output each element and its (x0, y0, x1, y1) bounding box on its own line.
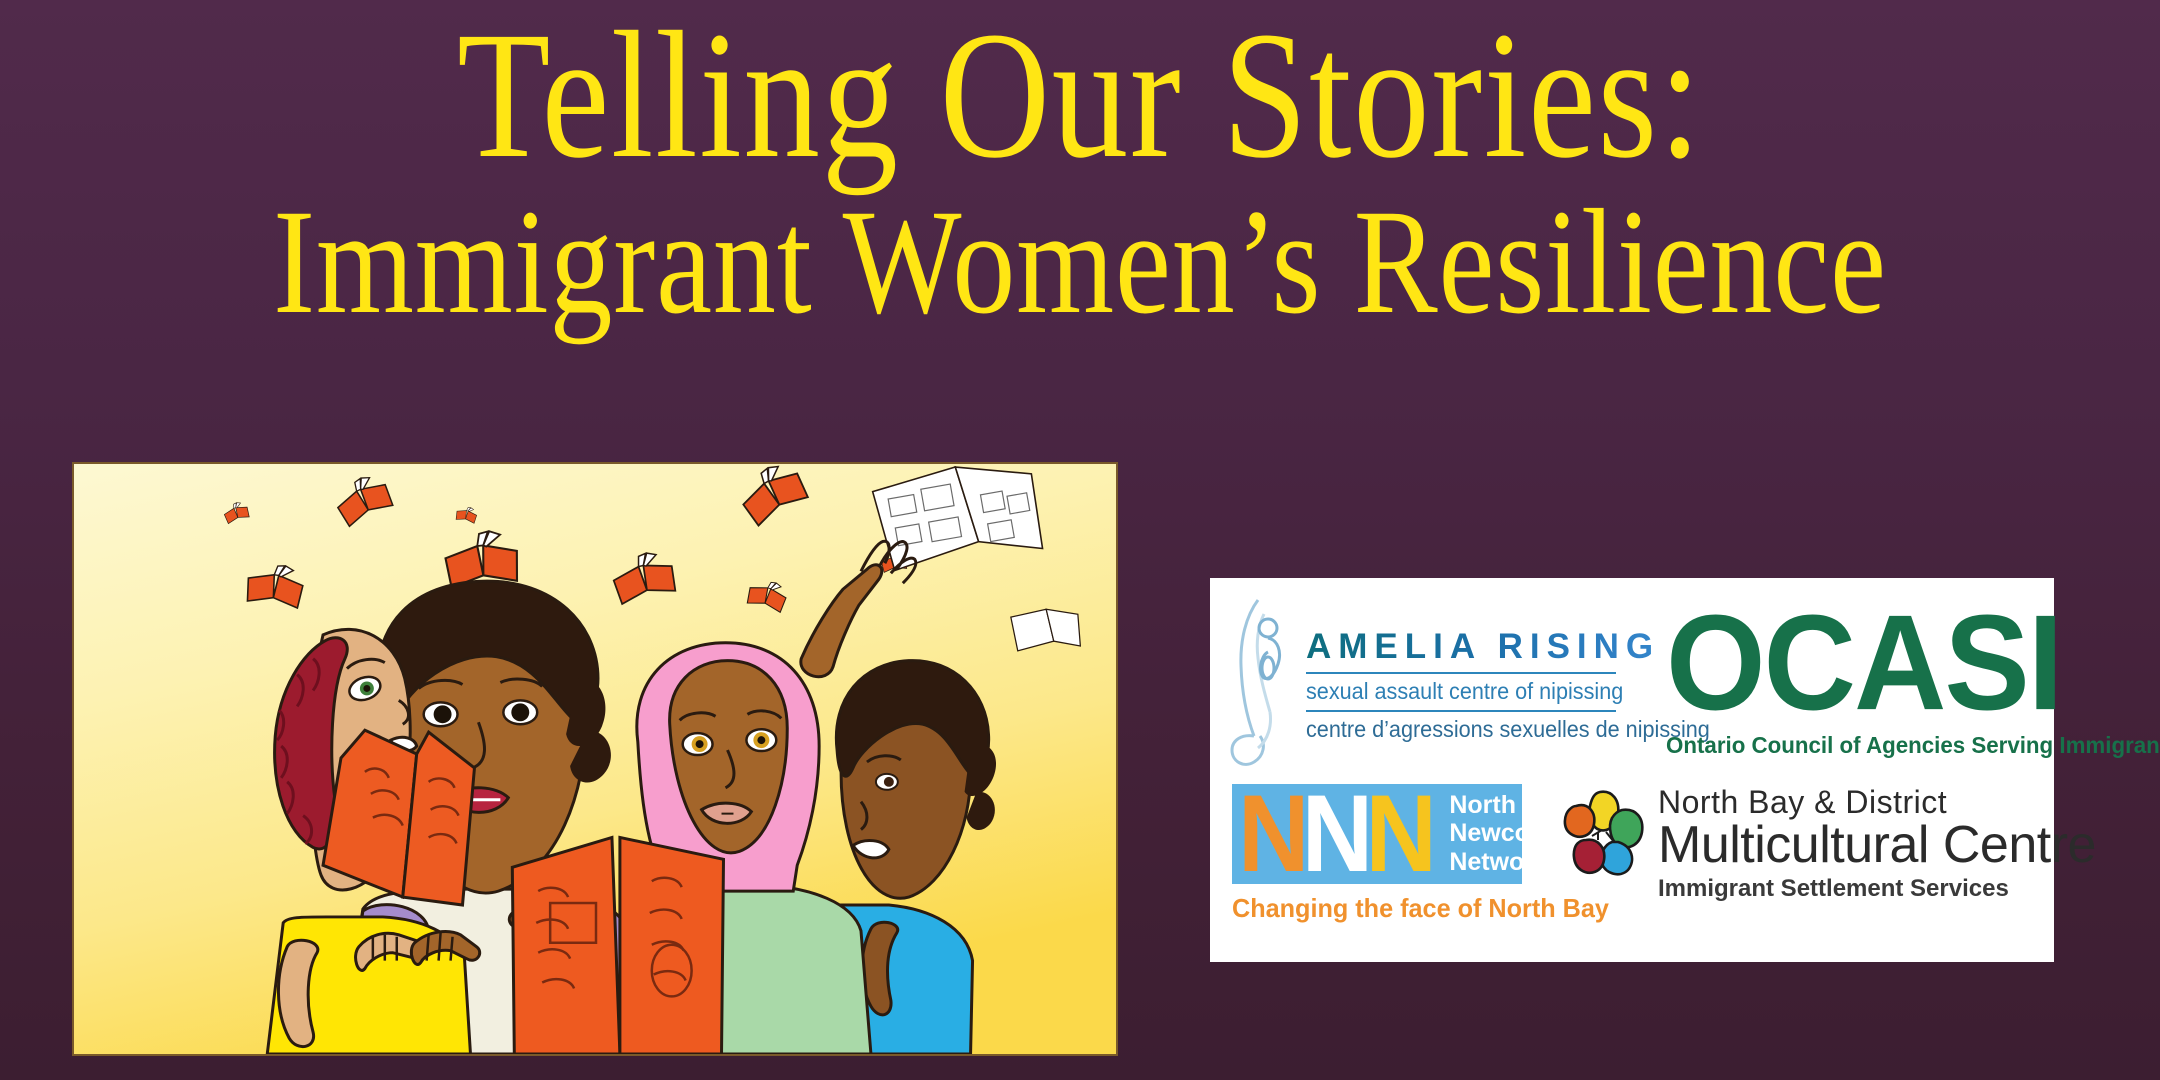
nnn-word-line-2: Newcomer (1449, 819, 1522, 848)
amelia-divider-2 (1306, 710, 1616, 712)
nnn-word-line-1: North Bay (1449, 791, 1522, 820)
nnn-letter-2: N (1302, 784, 1366, 884)
multicultural-centre-text: North Bay & District Multicultural Centr… (1658, 784, 2096, 903)
multicultural-flower-icon (1562, 788, 1646, 876)
poster-canvas: Telling Our Stories: Immigrant Women’s R… (0, 0, 2160, 1080)
ocasi-acronym: OCASI (1666, 604, 2160, 723)
nnn-letter-3: N (1366, 784, 1430, 884)
amelia-rising-subtitle-en: sexual assault centre of nipissing (1306, 678, 1710, 705)
ocasi-tagline: Ontario Council of Agencies Serving Immi… (1666, 732, 2160, 759)
amelia-divider-1 (1306, 672, 1616, 674)
nnn-colour-block: NNN North Bay Newcomer Network (1232, 784, 1522, 884)
amelia-rising-subtitle-fr: centre d’agressions sexuelles de nipissi… (1306, 716, 1710, 743)
poster-title-block: Telling Our Stories: Immigrant Women’s R… (0, 12, 2160, 331)
amelia-rising-figure-icon (1228, 594, 1302, 776)
logo-north-bay-newcomer-network[interactable]: NNN North Bay Newcomer Network Changing … (1232, 784, 1532, 924)
logo-multicultural-centre[interactable]: North Bay & District Multicultural Centr… (1562, 784, 2096, 903)
nnn-wordmark: North Bay Newcomer Network (1449, 791, 1522, 877)
nnn-word-line-3: Network (1449, 848, 1522, 877)
nnn-monogram: NNN (1238, 784, 1429, 884)
illustration-image (72, 462, 1118, 1056)
mcc-line-2: Multicultural Centre (1658, 819, 2096, 872)
illustration-artwork (74, 464, 1116, 1054)
mcc-line-3: Immigrant Settlement Services (1658, 875, 2096, 903)
page-title-line-2: Immigrant Women’s Resilience (173, 193, 1987, 331)
sponsor-logo-panel: AMELIA RISING sexual assault centre of n… (1210, 578, 2054, 962)
page-title-line-1: Telling Our Stories: (173, 12, 1987, 179)
nnn-tagline: Changing the face of North Bay (1232, 893, 1523, 924)
nnn-letter-1: N (1238, 784, 1302, 884)
logo-row-bottom: NNN North Bay Newcomer Network Changing … (1210, 784, 2054, 962)
logo-row-top: AMELIA RISING sexual assault centre of n… (1210, 578, 2054, 784)
logo-amelia-rising[interactable]: AMELIA RISING sexual assault centre of n… (1228, 594, 1648, 776)
logo-ocasi[interactable]: OCASI Ontario Council of Agencies Servin… (1666, 611, 2160, 759)
